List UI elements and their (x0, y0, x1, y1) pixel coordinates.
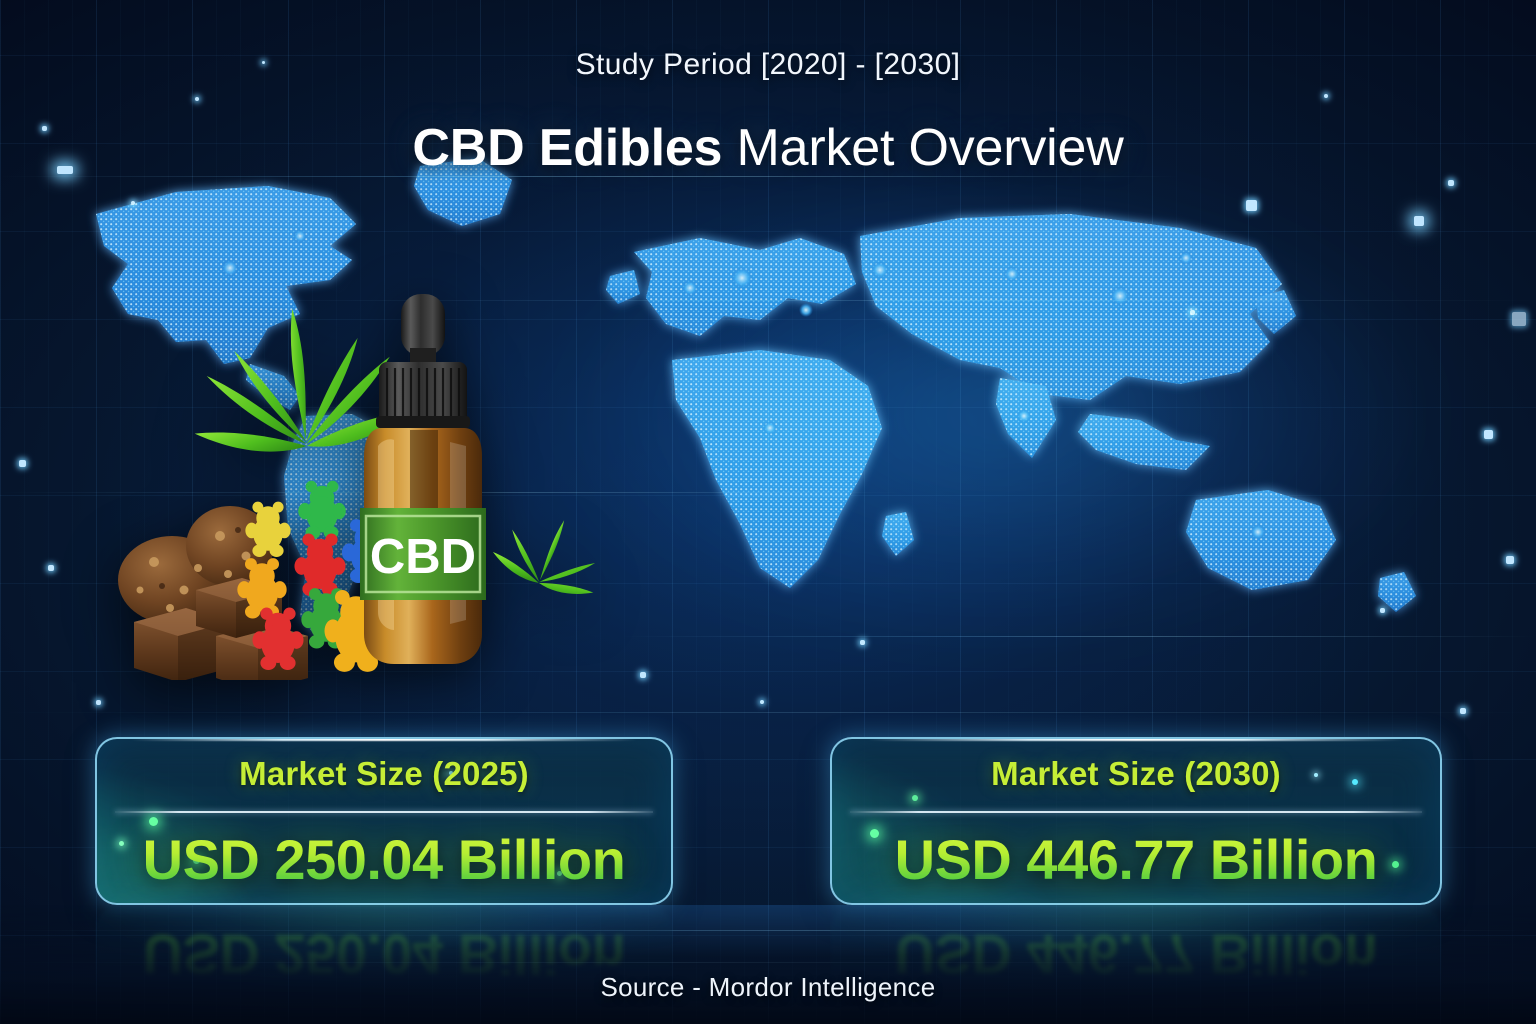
bottle-cbd-label: CBD (370, 530, 476, 584)
cbd-product-illustration: CBD (110, 290, 610, 680)
page-title-bold: CBD Edibles (412, 119, 722, 177)
market-size-card-2030[interactable]: Market Size (2030) USD 446.77 Billion (830, 737, 1442, 905)
card-top-highlight (131, 738, 636, 741)
page-title: CBD Edibles Market Overview (0, 118, 1536, 178)
market-size-label-2030: Market Size (2030) (832, 755, 1440, 793)
study-period-label: Study Period [2020] - [2030] (0, 48, 1536, 82)
card-divider (115, 811, 653, 813)
market-size-cards: Market Size (2025) USD 250.04 Billion Ma… (0, 737, 1536, 907)
infographic-canvas: Study Period [2020] - [2030] CBD Edibles… (0, 0, 1536, 1024)
market-size-value-2025: USD 250.04 Billion (97, 827, 671, 892)
dropper-bottle: CBD (360, 294, 486, 664)
card-divider (850, 811, 1422, 813)
source-attribution: Source - Mordor Intelligence (0, 972, 1536, 1003)
market-size-card-2025[interactable]: Market Size (2025) USD 250.04 Billion (95, 737, 673, 905)
market-size-value-2030: USD 446.77 Billion (832, 827, 1440, 892)
page-title-regular: Market Overview (722, 119, 1123, 177)
card-top-highlight (868, 738, 1403, 741)
market-size-label-2025: Market Size (2025) (97, 755, 671, 793)
